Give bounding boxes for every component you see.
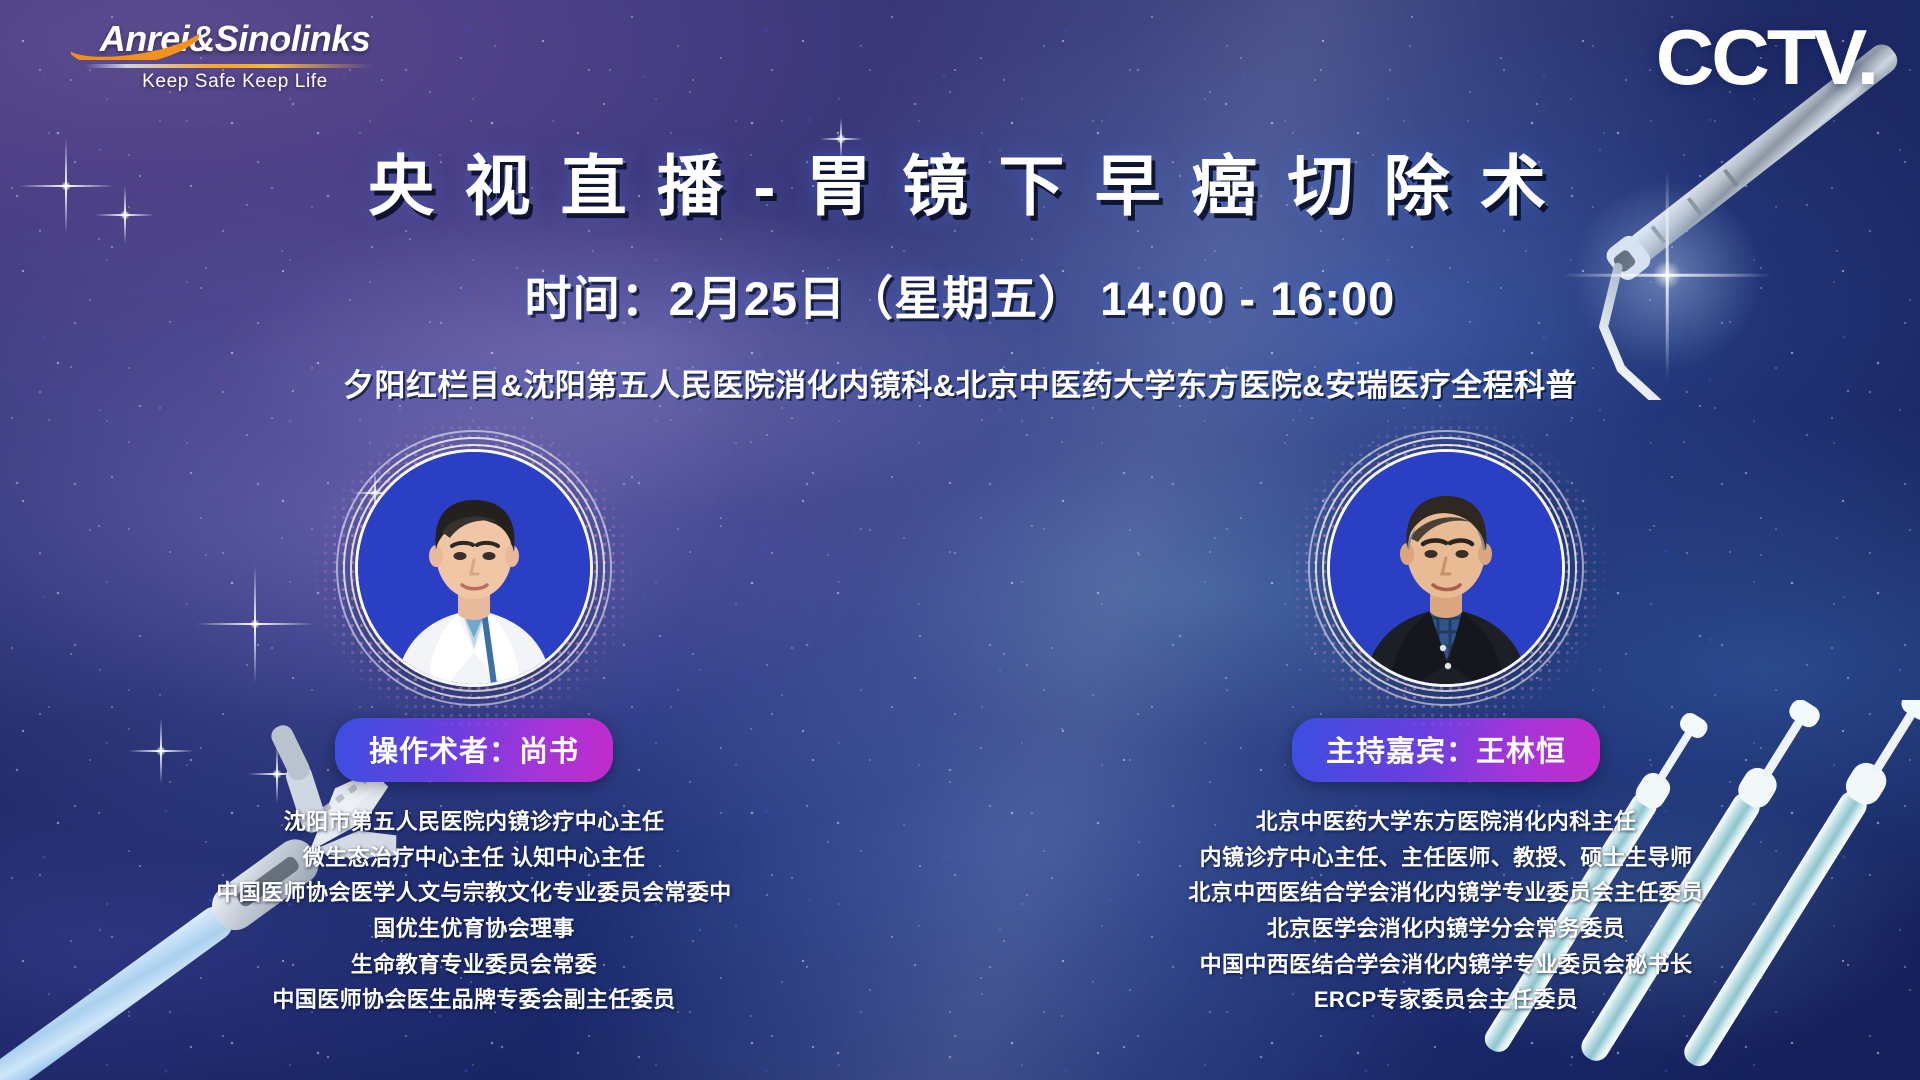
speaker-card-operator: 操作术者：尚书 沈阳市第五人民医院内镜诊疗中心主任 微生态治疗中心主任 认知中心… (214, 452, 734, 1072)
avatar (1330, 452, 1562, 684)
cctv-logo: CCTV. (1656, 18, 1876, 96)
credential-line: 北京医学会消化内镜学分会常务委员 (1188, 911, 1703, 947)
credential-line: 微生态治疗中心主任 认知中心主任 (216, 840, 731, 876)
speakers-section: 操作术者：尚书 沈阳市第五人民医院内镜诊疗中心主任 微生态治疗中心主任 认知中心… (0, 452, 1920, 1072)
speaker-badge: 主持嘉宾：王林恒 (1292, 718, 1600, 782)
credential-line: 北京中西医结合学会消化内镜学专业委员会主任委员 (1188, 875, 1703, 911)
partners-line: 夕阳红栏目&沈阳第五人民医院消化内镜科&北京中医药大学东方医院&安瑞医疗全程科普 (0, 360, 1920, 405)
avatar-frame (358, 452, 590, 684)
credential-line: 内镜诊疗中心主任、主任医师、教授、硕士生导师 (1188, 840, 1703, 876)
avatar (358, 452, 590, 684)
credentials-list: 沈阳市第五人民医院内镜诊疗中心主任 微生态治疗中心主任 认知中心主任 中国医师协… (216, 804, 731, 1018)
credentials-list: 北京中医药大学东方医院消化内科主任 内镜诊疗中心主任、主任医师、教授、硕士生导师… (1188, 804, 1703, 1018)
page-title: 央 视 直 播 - 胃 镜 下 早 癌 切 除 术 (0, 133, 1920, 229)
credential-line: 生命教育专业委员会常委 (216, 947, 731, 983)
credential-line: 北京中医药大学东方医院消化内科主任 (1188, 804, 1703, 840)
credential-line: 中国医师协会医学人文与宗教文化专业委员会常委中 (216, 875, 731, 911)
speaker-card-host: 主持嘉宾：王林恒 北京中医药大学东方医院消化内科主任 内镜诊疗中心主任、主任医师… (1186, 452, 1706, 1072)
brand-logo: Anrei&Sinolinks Keep Safe Keep Life (75, 20, 395, 93)
brand-tagline: Keep Safe Keep Life (75, 71, 395, 93)
credential-line: 中国中西医结合学会消化内镜学专业委员会秘书长 (1188, 947, 1703, 983)
speaker-badge: 操作术者：尚书 (335, 718, 613, 782)
brand-divider (85, 64, 385, 68)
poster-canvas: Anrei&Sinolinks Keep Safe Keep Life CCTV… (0, 0, 1920, 1080)
avatar-frame (1330, 452, 1562, 684)
credential-line: 中国医师协会医生品牌专委会副主任委员 (216, 982, 731, 1018)
brand-name: Anrei&Sinolinks (75, 20, 395, 58)
credential-line: 沈阳市第五人民医院内镜诊疗中心主任 (216, 804, 731, 840)
event-time: 时间：2月25日（星期五） 14:00 - 16:00 (0, 260, 1920, 329)
credential-line: ERCP专家委员会主任委员 (1188, 982, 1703, 1018)
credential-line: 国优生优育协会理事 (216, 911, 731, 947)
